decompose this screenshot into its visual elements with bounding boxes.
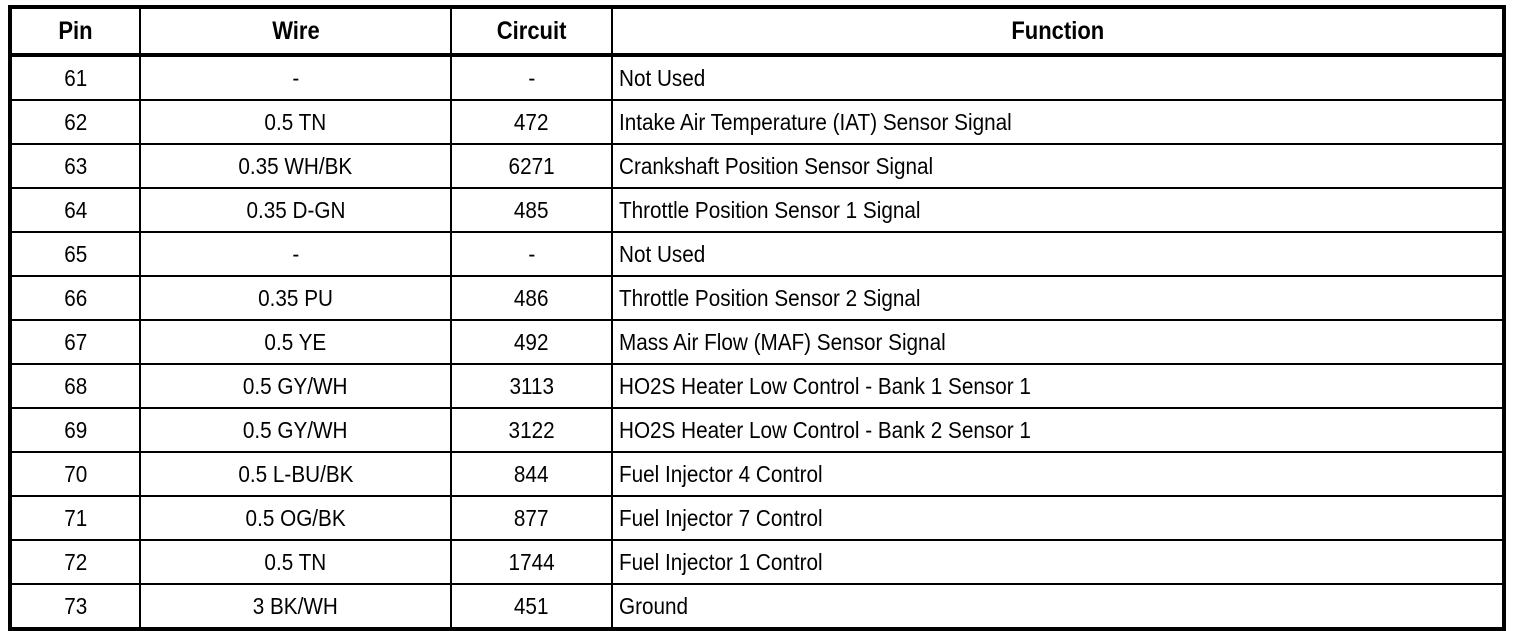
cell-wire: 0.5 GY/WH xyxy=(140,364,451,408)
cell-function: Ground xyxy=(612,584,1504,629)
cell-pin-text: 68 xyxy=(64,365,87,407)
cell-function-text: HO2S Heater Low Control - Bank 2 Sensor … xyxy=(619,409,1031,451)
table-row: 620.5 TN472Intake Air Temperature (IAT) … xyxy=(10,100,1504,144)
cell-circuit: 451 xyxy=(451,584,612,629)
page-root: Pin Wire Circuit Function 61--Not Used62… xyxy=(0,0,1520,606)
column-header-pin: Pin xyxy=(10,7,140,55)
cell-function: Fuel Injector 7 Control xyxy=(612,496,1504,540)
cell-pin-text: 63 xyxy=(64,145,87,187)
cell-circuit-text: 451 xyxy=(514,585,549,627)
table-header-row: Pin Wire Circuit Function xyxy=(10,7,1504,55)
cell-wire: - xyxy=(140,55,451,100)
column-header-function: Function xyxy=(612,7,1504,55)
column-header-function-label: Function xyxy=(1011,9,1104,53)
table-row: 700.5 L-BU/BK844Fuel Injector 4 Control xyxy=(10,452,1504,496)
cell-function: Throttle Position Sensor 2 Signal xyxy=(612,276,1504,320)
cell-circuit: - xyxy=(451,232,612,276)
cell-circuit-text: 485 xyxy=(514,189,549,231)
cell-pin: 62 xyxy=(10,100,140,144)
cell-circuit-text: 877 xyxy=(514,497,549,539)
cell-wire-text: 0.5 OG/BK xyxy=(245,497,345,539)
cell-pin-text: 73 xyxy=(64,585,87,627)
table-row: 680.5 GY/WH3113HO2S Heater Low Control -… xyxy=(10,364,1504,408)
cell-function: Not Used xyxy=(612,232,1504,276)
cell-function: Fuel Injector 1 Control xyxy=(612,540,1504,584)
cell-wire: 0.5 YE xyxy=(140,320,451,364)
cell-function-text: Fuel Injector 1 Control xyxy=(619,541,823,583)
cell-pin: 61 xyxy=(10,55,140,100)
cell-pin-text: 69 xyxy=(64,409,87,451)
column-header-circuit-label: Circuit xyxy=(497,9,567,53)
table-row: 65--Not Used xyxy=(10,232,1504,276)
cell-pin: 67 xyxy=(10,320,140,364)
cell-wire-text: - xyxy=(292,233,299,275)
cell-pin: 71 xyxy=(10,496,140,540)
column-header-pin-label: Pin xyxy=(58,9,92,53)
cell-pin-text: 66 xyxy=(64,277,87,319)
cell-circuit-text: - xyxy=(528,57,535,99)
table-row: 670.5 YE492Mass Air Flow (MAF) Sensor Si… xyxy=(10,320,1504,364)
cell-circuit: - xyxy=(451,55,612,100)
cell-circuit-text: 492 xyxy=(514,321,549,363)
cell-circuit-text: 1744 xyxy=(508,541,554,583)
cell-circuit: 6271 xyxy=(451,144,612,188)
cell-wire: - xyxy=(140,232,451,276)
cell-wire: 0.5 GY/WH xyxy=(140,408,451,452)
column-header-wire: Wire xyxy=(140,7,451,55)
cell-pin-text: 72 xyxy=(64,541,87,583)
cell-function: HO2S Heater Low Control - Bank 1 Sensor … xyxy=(612,364,1504,408)
cell-function-text: Not Used xyxy=(619,57,705,99)
cell-function: HO2S Heater Low Control - Bank 2 Sensor … xyxy=(612,408,1504,452)
cell-circuit: 844 xyxy=(451,452,612,496)
table-header: Pin Wire Circuit Function xyxy=(10,7,1504,55)
cell-function-text: Fuel Injector 4 Control xyxy=(619,453,823,495)
cell-circuit: 485 xyxy=(451,188,612,232)
cell-circuit-text: - xyxy=(528,233,535,275)
table-body: 61--Not Used620.5 TN472Intake Air Temper… xyxy=(10,55,1504,629)
cell-circuit: 486 xyxy=(451,276,612,320)
cell-circuit-text: 844 xyxy=(514,453,549,495)
cell-wire-text: 0.5 L-BU/BK xyxy=(238,453,353,495)
cell-pin-text: 62 xyxy=(64,101,87,143)
cell-pin: 72 xyxy=(10,540,140,584)
cell-circuit: 3122 xyxy=(451,408,612,452)
cell-wire: 0.5 L-BU/BK xyxy=(140,452,451,496)
table-row: 733 BK/WH451Ground xyxy=(10,584,1504,629)
cell-wire: 3 BK/WH xyxy=(140,584,451,629)
cell-wire-text: 0.35 PU xyxy=(258,277,333,319)
cell-function-text: Not Used xyxy=(619,233,705,275)
cell-pin: 69 xyxy=(10,408,140,452)
cell-function-text: Crankshaft Position Sensor Signal xyxy=(619,145,933,187)
cell-pin: 73 xyxy=(10,584,140,629)
table-row: 720.5 TN1744Fuel Injector 1 Control xyxy=(10,540,1504,584)
cell-function: Throttle Position Sensor 1 Signal xyxy=(612,188,1504,232)
cell-function-text: Intake Air Temperature (IAT) Sensor Sign… xyxy=(619,101,1012,143)
cell-pin: 65 xyxy=(10,232,140,276)
cell-function: Crankshaft Position Sensor Signal xyxy=(612,144,1504,188)
cell-wire-text: 3 BK/WH xyxy=(253,585,338,627)
cell-wire: 0.35 PU xyxy=(140,276,451,320)
cell-wire-text: - xyxy=(292,57,299,99)
cell-pin-text: 65 xyxy=(64,233,87,275)
cell-wire: 0.35 D-GN xyxy=(140,188,451,232)
cell-wire-text: 0.35 D-GN xyxy=(246,189,345,231)
cell-circuit-text: 486 xyxy=(514,277,549,319)
cell-wire-text: 0.5 TN xyxy=(265,541,327,583)
cell-pin: 64 xyxy=(10,188,140,232)
cell-wire: 0.35 WH/BK xyxy=(140,144,451,188)
table-row: 640.35 D-GN485Throttle Position Sensor 1… xyxy=(10,188,1504,232)
cell-function-text: Throttle Position Sensor 2 Signal xyxy=(619,277,920,319)
cell-function: Fuel Injector 4 Control xyxy=(612,452,1504,496)
cell-circuit-text: 3122 xyxy=(508,409,554,451)
cell-function-text: HO2S Heater Low Control - Bank 1 Sensor … xyxy=(619,365,1031,407)
cell-pin: 63 xyxy=(10,144,140,188)
cell-pin: 68 xyxy=(10,364,140,408)
cell-circuit-text: 6271 xyxy=(508,145,554,187)
cell-wire: 0.5 OG/BK xyxy=(140,496,451,540)
table-row: 61--Not Used xyxy=(10,55,1504,100)
cell-pin-text: 67 xyxy=(64,321,87,363)
column-header-circuit: Circuit xyxy=(451,7,612,55)
column-header-wire-label: Wire xyxy=(272,9,319,53)
cell-circuit: 1744 xyxy=(451,540,612,584)
cell-pin: 70 xyxy=(10,452,140,496)
cell-wire: 0.5 TN xyxy=(140,100,451,144)
cell-pin-text: 61 xyxy=(64,57,87,99)
cell-wire-text: 0.35 WH/BK xyxy=(239,145,353,187)
table-row: 710.5 OG/BK877Fuel Injector 7 Control xyxy=(10,496,1504,540)
table-row: 690.5 GY/WH3122HO2S Heater Low Control -… xyxy=(10,408,1504,452)
cell-wire-text: 0.5 GY/WH xyxy=(243,409,348,451)
cell-pin-text: 64 xyxy=(64,189,87,231)
cell-wire-text: 0.5 TN xyxy=(265,101,327,143)
cell-function-text: Fuel Injector 7 Control xyxy=(619,497,823,539)
pin-assignment-table: Pin Wire Circuit Function 61--Not Used62… xyxy=(8,5,1506,631)
cell-function: Not Used xyxy=(612,55,1504,100)
cell-wire-text: 0.5 YE xyxy=(265,321,327,363)
table-row: 630.35 WH/BK6271Crankshaft Position Sens… xyxy=(10,144,1504,188)
cell-wire-text: 0.5 GY/WH xyxy=(243,365,348,407)
cell-circuit: 472 xyxy=(451,100,612,144)
cell-function-text: Ground xyxy=(619,585,688,627)
cell-circuit: 492 xyxy=(451,320,612,364)
cell-circuit-text: 472 xyxy=(514,101,549,143)
cell-pin-text: 71 xyxy=(64,497,87,539)
cell-pin: 66 xyxy=(10,276,140,320)
cell-pin-text: 70 xyxy=(64,453,87,495)
table-row: 660.35 PU486Throttle Position Sensor 2 S… xyxy=(10,276,1504,320)
cell-wire: 0.5 TN xyxy=(140,540,451,584)
cell-function-text: Throttle Position Sensor 1 Signal xyxy=(619,189,920,231)
cell-function-text: Mass Air Flow (MAF) Sensor Signal xyxy=(619,321,946,363)
cell-function: Intake Air Temperature (IAT) Sensor Sign… xyxy=(612,100,1504,144)
cell-function: Mass Air Flow (MAF) Sensor Signal xyxy=(612,320,1504,364)
cell-circuit: 3113 xyxy=(451,364,612,408)
cell-circuit-text: 3113 xyxy=(509,365,554,407)
cell-circuit: 877 xyxy=(451,496,612,540)
